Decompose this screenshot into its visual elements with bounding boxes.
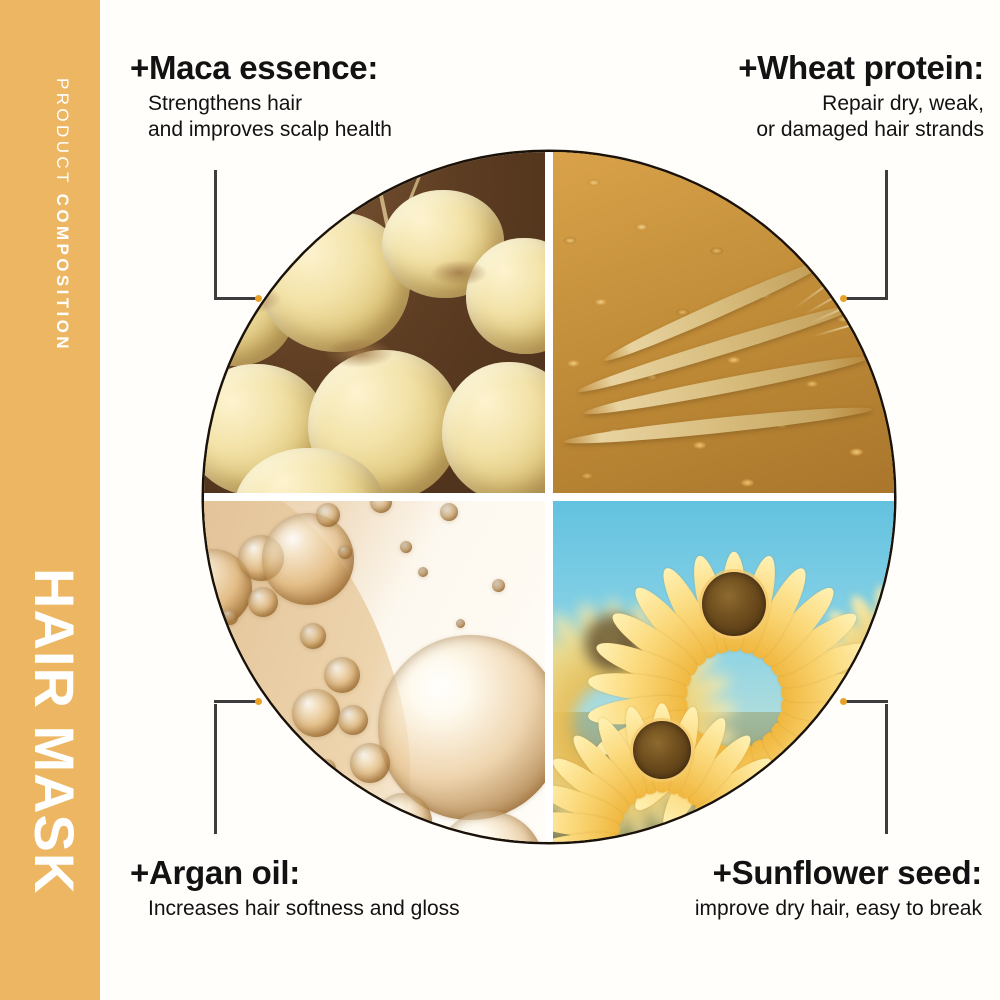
product-composition-infographic: PRODUCT COMPOSITION HAIR MASK bbox=[0, 0, 1000, 1000]
callout-argan-title: +Argan oil: bbox=[130, 855, 460, 891]
leader-dot-sunflower bbox=[840, 698, 847, 705]
leader-bracket-maca bbox=[214, 170, 274, 302]
callout-sunflower-description: improve dry hair, easy to break bbox=[695, 896, 982, 922]
callout-argan-description: Increases hair softness and gloss bbox=[130, 896, 460, 922]
callout-maca-title: +Maca essence: bbox=[130, 50, 392, 86]
sidebar-eyebrow-label: PRODUCT COMPOSITION bbox=[52, 78, 72, 352]
sidebar-brand-bar: PRODUCT COMPOSITION HAIR MASK bbox=[0, 0, 100, 1000]
ingredient-circle-collage bbox=[204, 152, 894, 842]
callout-sunflower-title: +Sunflower seed: bbox=[695, 855, 982, 891]
callout-maca-description: Strengthens hair and improves scalp heal… bbox=[130, 91, 392, 142]
leader-bracket-argan bbox=[214, 700, 274, 834]
callout-argan: +Argan oil: Increases hair softness and … bbox=[130, 855, 460, 922]
callout-maca: +Maca essence: Strengthens hair and impr… bbox=[130, 50, 392, 143]
leader-dot-argan bbox=[255, 698, 262, 705]
sidebar-eyebrow-light: PRODUCT bbox=[53, 78, 72, 194]
callout-wheat-title: +Wheat protein: bbox=[738, 50, 984, 86]
leader-dot-maca bbox=[255, 295, 262, 302]
callout-wheat-description: Repair dry, weak, or damaged hair strand… bbox=[738, 91, 984, 142]
leader-bracket-sunflower bbox=[826, 700, 888, 834]
sidebar-eyebrow-bold: COMPOSITION bbox=[53, 194, 72, 352]
leader-bracket-wheat bbox=[826, 170, 888, 302]
sidebar-product-title: HAIR MASK bbox=[26, 568, 82, 894]
callout-sunflower: +Sunflower seed: improve dry hair, easy … bbox=[695, 855, 982, 922]
leader-dot-wheat bbox=[840, 295, 847, 302]
callout-wheat: +Wheat protein: Repair dry, weak, or dam… bbox=[738, 50, 984, 143]
